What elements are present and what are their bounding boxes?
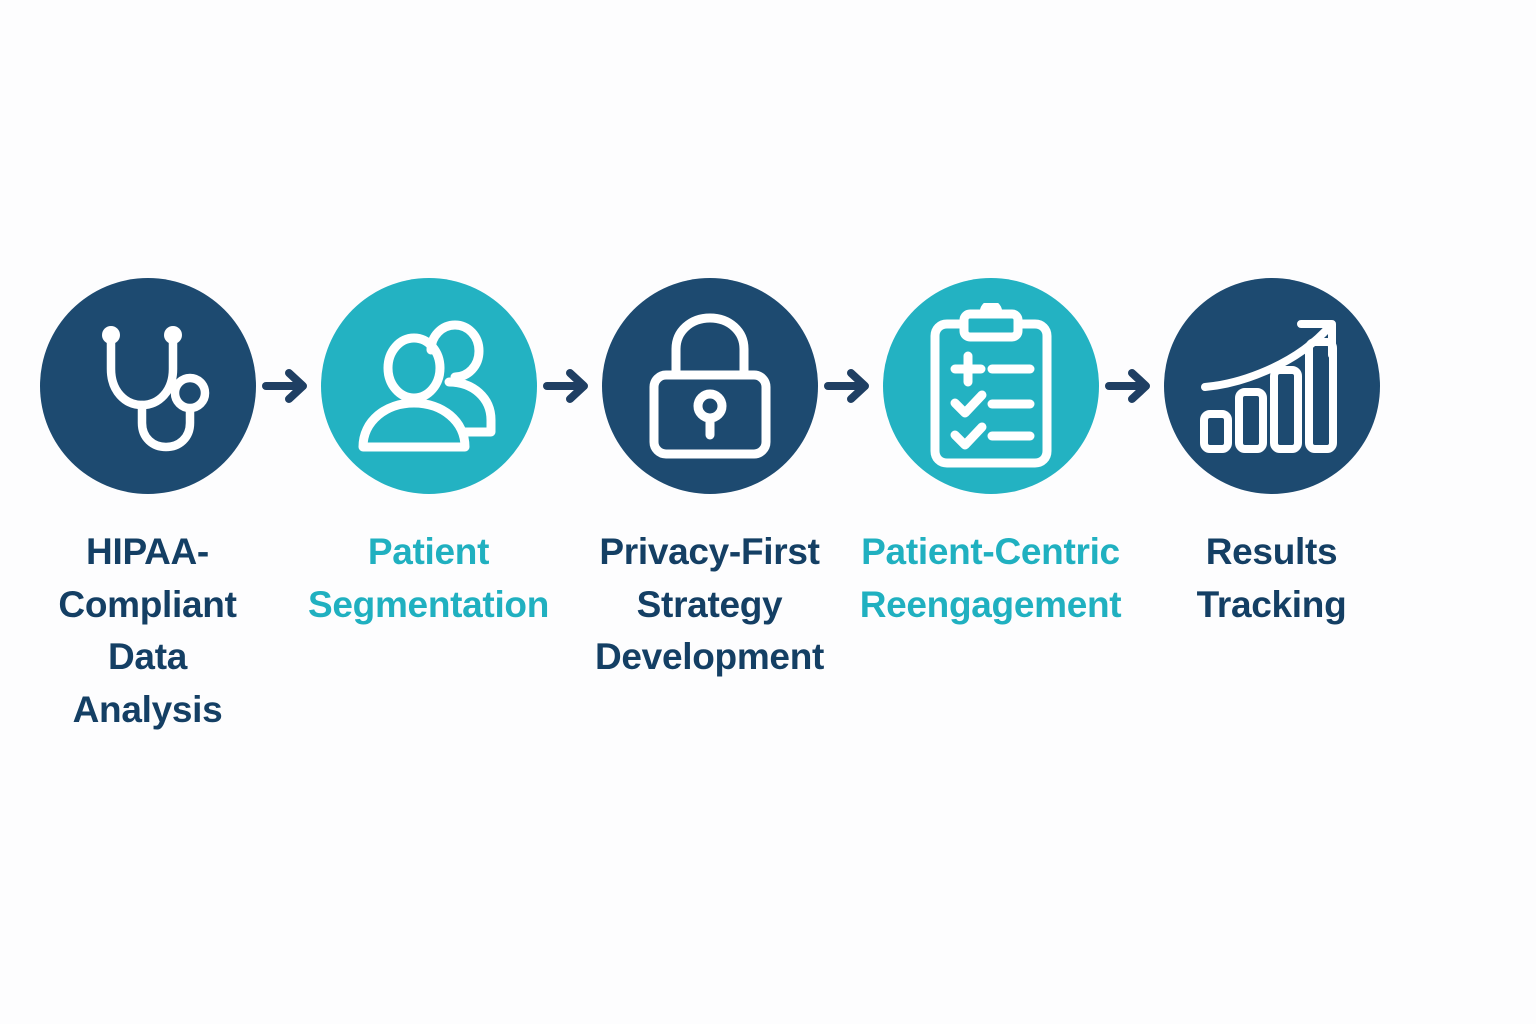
step-2-icon-circle[interactable] (321, 278, 537, 494)
process-step-1[interactable]: HIPAA- Compliant Data Analysis (38, 278, 257, 736)
arrow-1-to-2 (257, 278, 319, 494)
arrow-right-icon (1105, 366, 1157, 406)
step-5-icon-circle[interactable] (1164, 278, 1380, 494)
arrow-3-to-4 (819, 278, 881, 494)
stethoscope-earpiece-right-icon (164, 326, 182, 344)
stethoscope-earpiece-left-icon (102, 326, 120, 344)
step-3-label: Privacy-First Strategy Development (595, 526, 824, 684)
arrow-right-icon (543, 366, 595, 406)
stethoscope-icon (73, 311, 223, 461)
step-4-label: Patient-Centric Reengagement (860, 526, 1122, 631)
arrow-right-icon (824, 366, 876, 406)
clipboard-checklist-icon (926, 303, 1056, 469)
users-icon (353, 320, 505, 452)
step-1-label: HIPAA- Compliant Data Analysis (38, 526, 257, 736)
arrow-4-to-5 (1100, 278, 1162, 494)
diagram-canvas: HIPAA- Compliant Data Analysis (0, 0, 1536, 1024)
step-1-icon-circle[interactable] (40, 278, 256, 494)
step-4-icon-circle[interactable] (883, 278, 1099, 494)
growth-chart-icon (1199, 318, 1345, 454)
process-step-4[interactable]: Patient-Centric Reengagement (881, 278, 1100, 631)
arrow-2-to-3 (538, 278, 600, 494)
arrow-right-icon (262, 366, 314, 406)
step-5-label: Results Tracking (1197, 526, 1347, 631)
process-step-3[interactable]: Privacy-First Strategy Development (600, 278, 819, 684)
lock-icon (646, 313, 774, 459)
process-flow: HIPAA- Compliant Data Analysis (0, 278, 1536, 736)
step-2-label: Patient Segmentation (308, 526, 549, 631)
step-3-icon-circle[interactable] (602, 278, 818, 494)
process-step-2[interactable]: Patient Segmentation (319, 278, 538, 631)
process-step-5[interactable]: Results Tracking (1162, 278, 1381, 631)
